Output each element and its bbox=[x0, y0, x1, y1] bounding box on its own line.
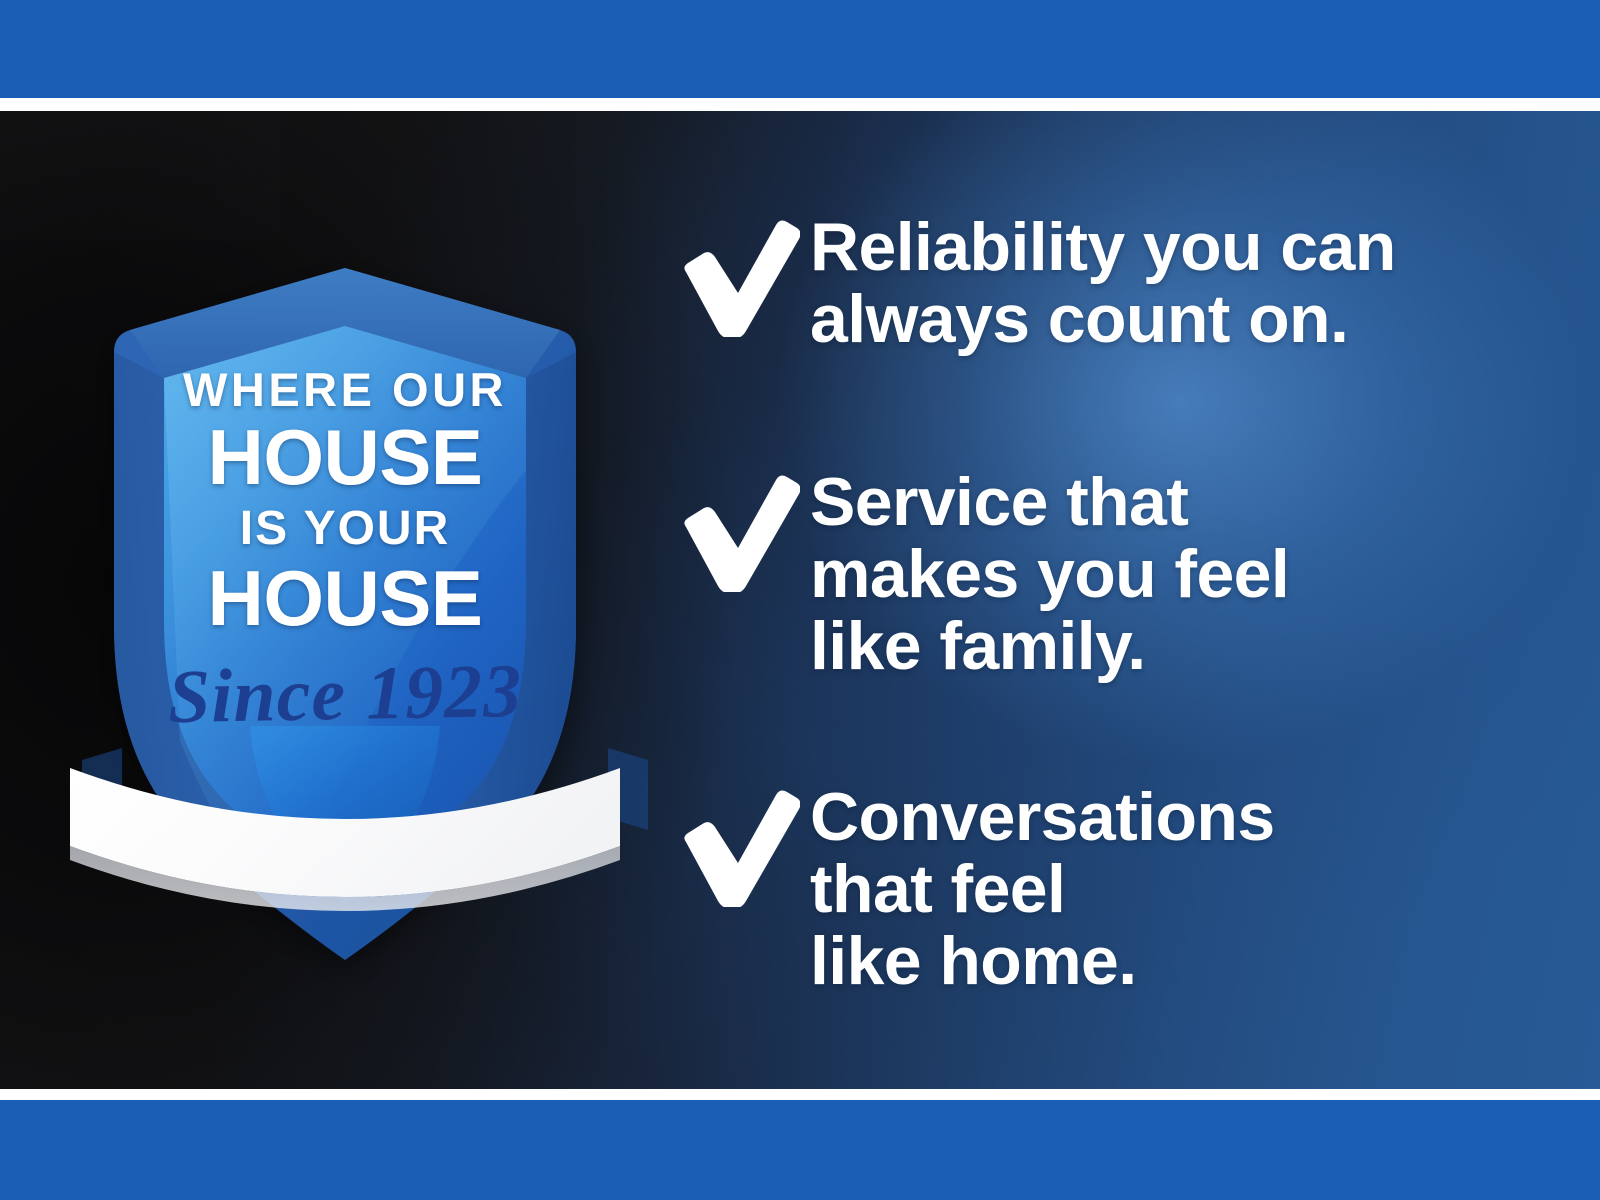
shield-badge: WHERE OUR HOUSE IS YOUR HOUSE Since 1923 bbox=[60, 170, 630, 960]
benefit-text-1: Reliability you can always count on. bbox=[810, 211, 1396, 355]
benefit-text-3: Conversations that feel like home. bbox=[810, 781, 1275, 997]
benefit-item-1: Reliability you can always count on. bbox=[660, 211, 1396, 355]
benefit-text-2: Service that makes you feel like family. bbox=[810, 466, 1289, 682]
benefit-item-3: Conversations that feel like home. bbox=[660, 781, 1275, 997]
checkmark-icon bbox=[660, 466, 810, 592]
promo-poster: WHERE OUR HOUSE IS YOUR HOUSE Since 1923… bbox=[0, 0, 1600, 1200]
benefit-item-2: Service that makes you feel like family. bbox=[660, 466, 1289, 682]
brand-bar-top bbox=[0, 0, 1600, 98]
brand-bar-bottom bbox=[0, 1100, 1600, 1200]
benefits-list: Reliability you can always count on. Ser… bbox=[660, 111, 1540, 1089]
checkmark-icon bbox=[660, 211, 810, 337]
checkmark-icon bbox=[660, 781, 810, 907]
